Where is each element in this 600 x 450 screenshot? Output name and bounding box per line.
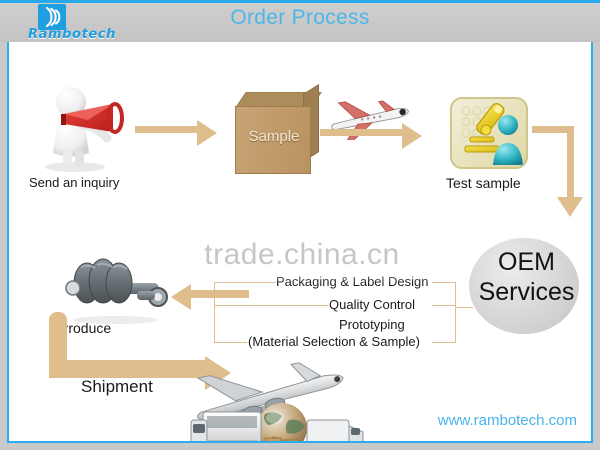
order-process-infographic: Rambotech Order Process (0, 0, 600, 450)
service-item-1: Quality Control (329, 297, 415, 312)
service-item-3: (Material Selection & Sample) (248, 334, 420, 349)
cardboard-box-icon: Sample (227, 92, 317, 174)
page-title: Order Process (0, 6, 600, 30)
step-label-test-sample: Test sample (446, 175, 521, 191)
crankshaft-icon (57, 257, 177, 325)
oem-line-1: OEM (464, 247, 589, 277)
website-url[interactable]: www.rambotech.com (438, 412, 577, 429)
service-item-2: Prototyping (339, 317, 405, 332)
oem-line-2: Services (464, 277, 589, 307)
logistics-icon (177, 354, 377, 443)
service-item-0: Packaging & Label Design (276, 274, 429, 289)
step-label-inquiry: Send an inquiry (29, 175, 119, 190)
box-label: Sample (237, 128, 311, 145)
person-with-envelope-icon (31, 84, 141, 172)
oem-services-label: OEM Services (464, 247, 589, 307)
header-bar: Rambotech Order Process (0, 0, 600, 42)
diagram-canvas: Send an inquiry Sample (7, 42, 593, 443)
microscope-person-icon (450, 97, 528, 169)
step-label-shipment: Shipment (81, 377, 153, 397)
